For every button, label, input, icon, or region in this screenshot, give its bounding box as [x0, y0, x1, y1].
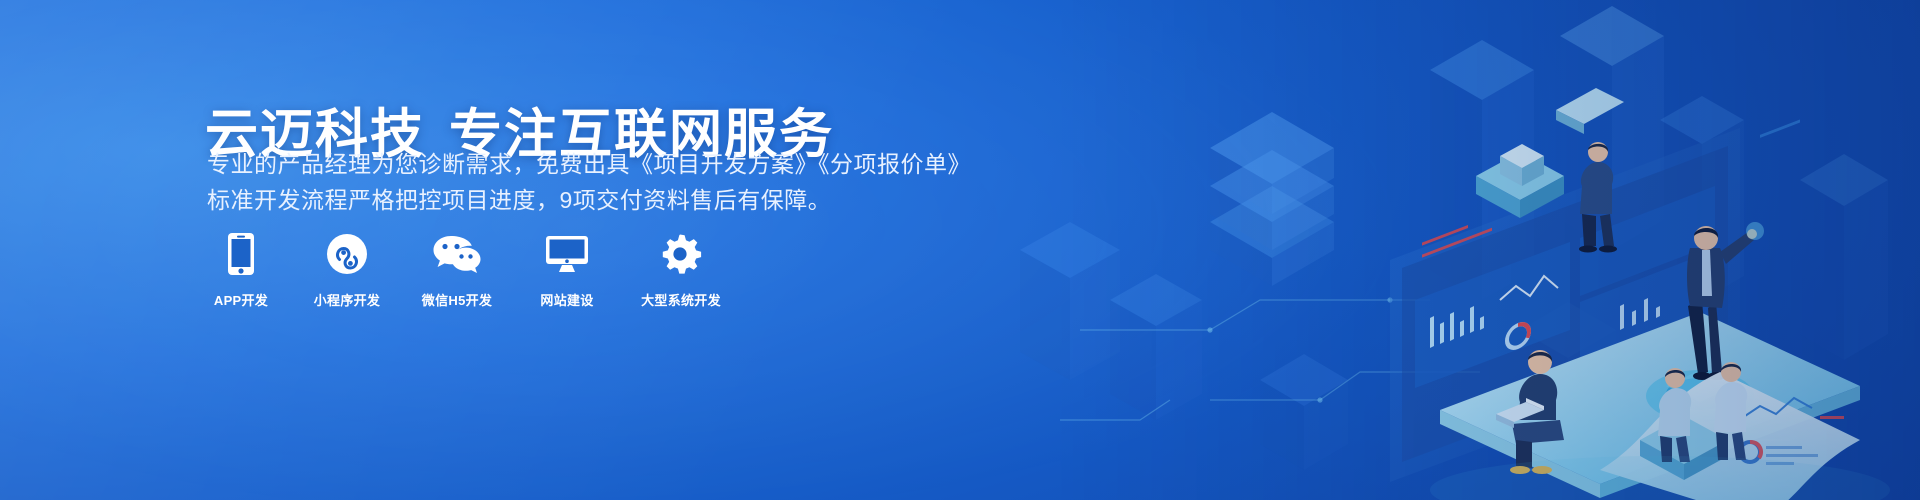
service-item-large-system[interactable]: 大型系统开发: [637, 232, 725, 309]
service-label: 小程序开发: [314, 290, 381, 309]
wechat-icon: [432, 232, 482, 276]
subtitle-line-2: 标准开发流程严格把控项目进度，9项交付资料售后有保障。: [207, 182, 907, 218]
subtitle-line-1: 专业的产品经理为您诊断需求，免费出具《项目开发方案》《分项报价单》: [207, 146, 907, 182]
service-label: 大型系统开发: [641, 290, 721, 309]
monitor-icon: [545, 232, 589, 276]
service-label: APP开发: [214, 290, 268, 309]
illustration: [960, 0, 1920, 500]
service-item-miniprogram[interactable]: 小程序开发: [311, 232, 383, 309]
service-item-website[interactable]: 网站建设: [531, 232, 603, 309]
gear-icon: [660, 232, 702, 276]
service-label: 微信H5开发: [422, 290, 492, 309]
service-item-wechat-h5[interactable]: 微信H5开发: [417, 232, 497, 309]
service-label: 网站建设: [540, 290, 593, 309]
banner-content: 云迈科技专注互联网服务 专业的产品经理为您诊断需求，免费出具《项目开发方案》《分…: [205, 0, 965, 500]
hero-banner: 云迈科技专注互联网服务 专业的产品经理为您诊断需求，免费出具《项目开发方案》《分…: [0, 0, 1920, 500]
service-list: APP开发 小程序开发: [205, 232, 725, 309]
banner-subtitle: 专业的产品经理为您诊断需求，免费出具《项目开发方案》《分项报价单》 标准开发流程…: [207, 146, 907, 218]
service-item-app[interactable]: APP开发: [205, 232, 277, 309]
mobile-phone-icon: [219, 232, 263, 276]
mini-program-icon: [325, 232, 369, 276]
